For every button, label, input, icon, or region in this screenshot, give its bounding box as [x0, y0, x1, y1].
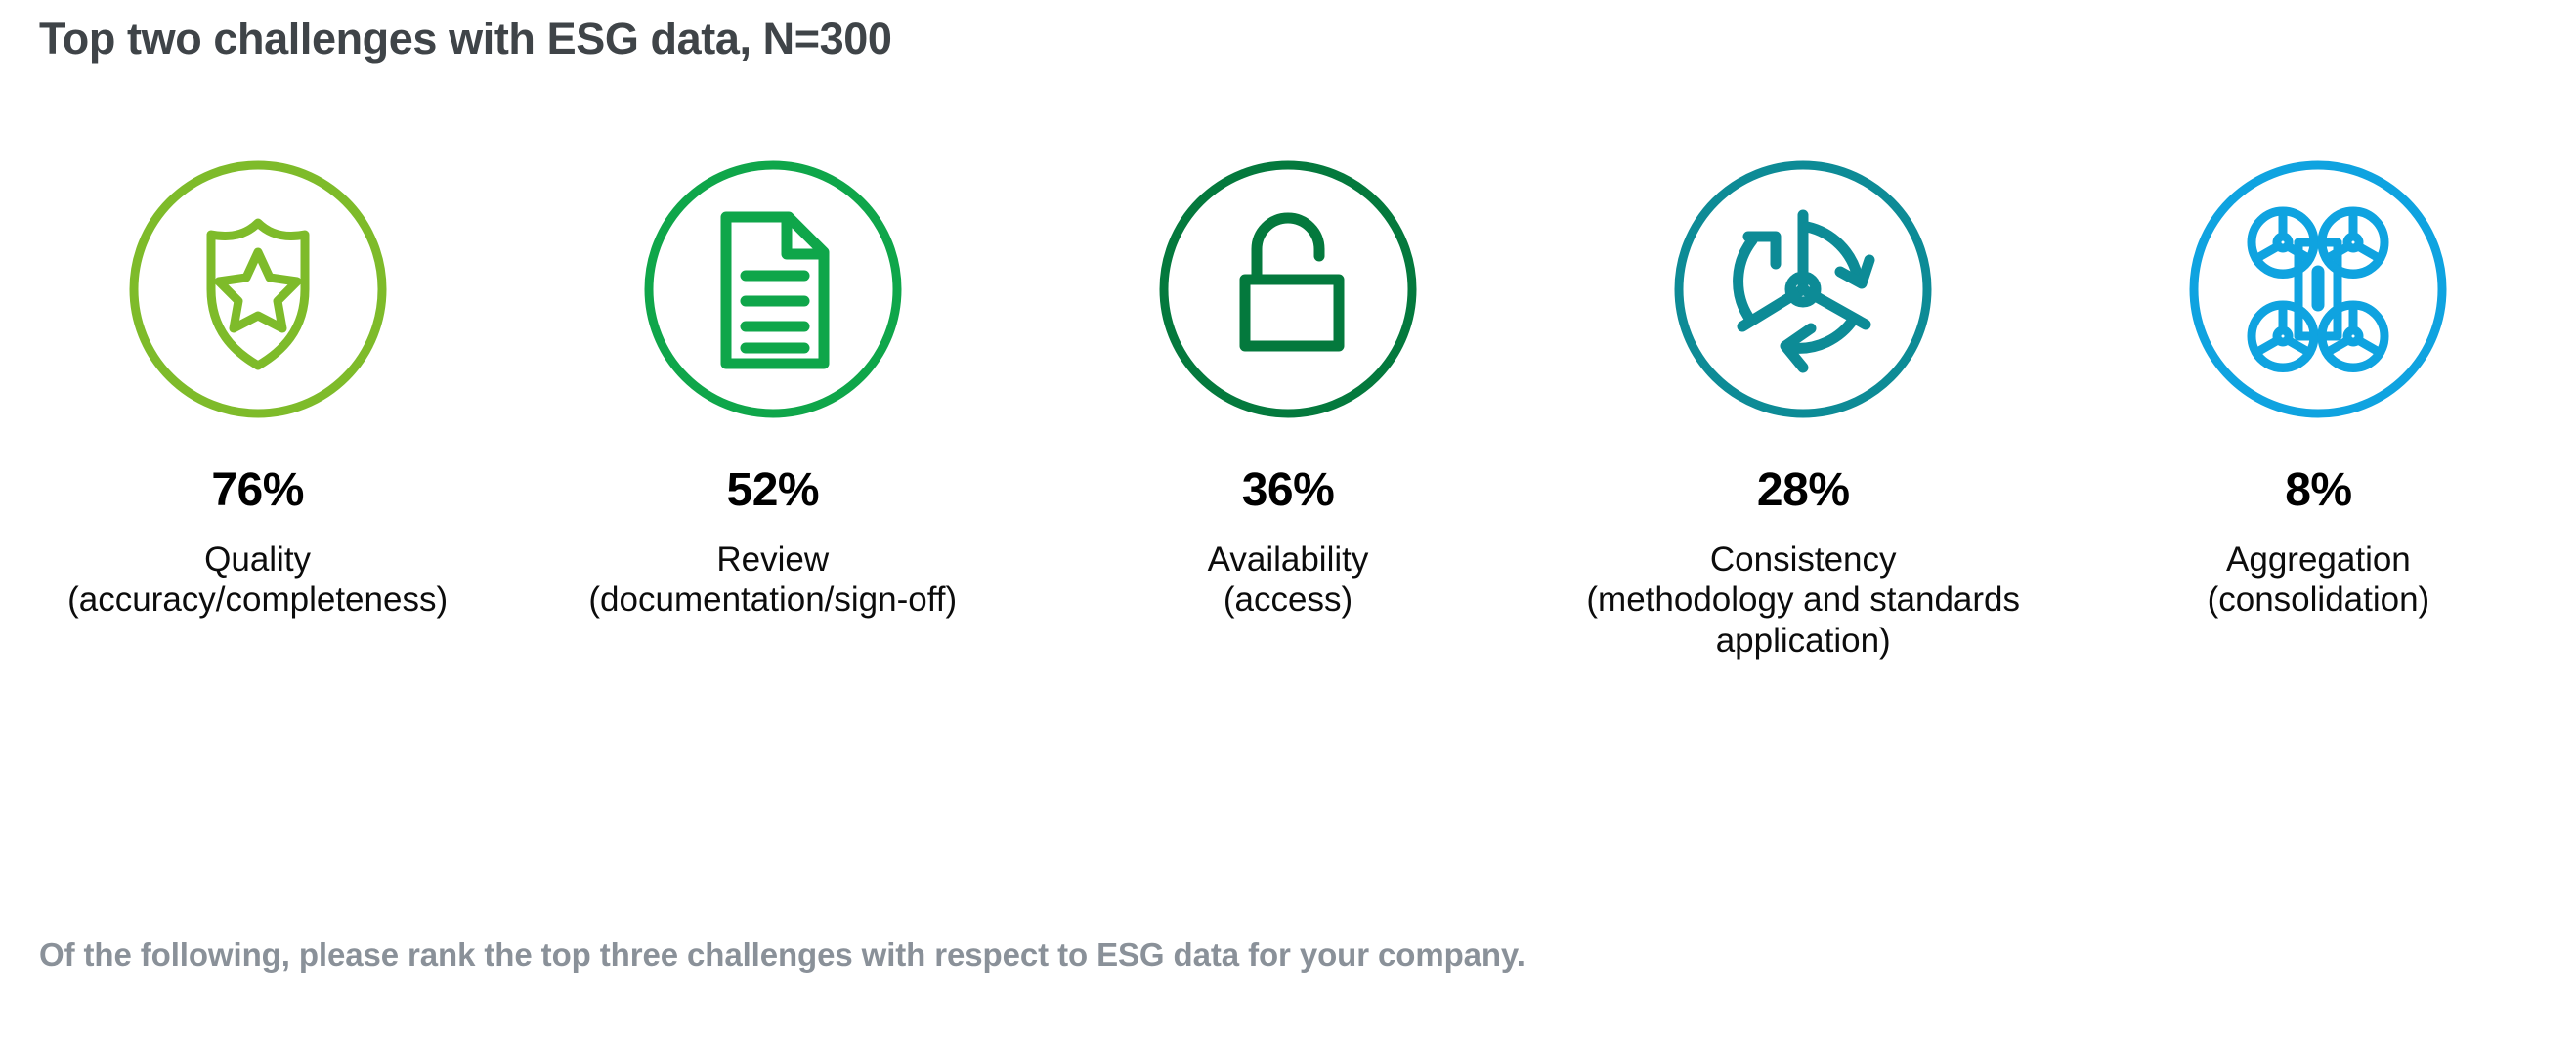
- stat-value: 36%: [1242, 467, 1335, 514]
- survey-question-note: Of the following, please rank the top th…: [39, 936, 1525, 974]
- stat-label: Availability (access): [1208, 540, 1369, 621]
- stat-label-sub: (access): [1208, 580, 1369, 620]
- stat-card-quality: 76% Quality (accuracy/completeness): [0, 156, 515, 621]
- stat-label-main: Aggregation: [2226, 541, 2411, 579]
- stat-card-aggregation: 8% Aggregation (consolidation): [2061, 156, 2576, 621]
- stat-card-availability: 36% Availability (access): [1030, 156, 1545, 621]
- stat-label-main: Availability: [1208, 541, 1369, 579]
- shield-star-icon: [125, 156, 391, 422]
- rotation-arrows-icon: [1670, 156, 1936, 422]
- infographic-page: Top two challenges with ESG data, N=300 …: [0, 0, 2576, 1040]
- stat-value: 76%: [211, 467, 304, 514]
- stat-label: Aggregation (consolidation): [2208, 540, 2430, 621]
- stat-value: 8%: [2285, 467, 2351, 514]
- stat-card-consistency: 28% Consistency (methodology and standar…: [1546, 156, 2061, 661]
- stat-label-sub: (documentation/sign-off): [588, 580, 957, 620]
- stat-label-sub: (accuracy/completeness): [67, 580, 448, 620]
- stat-label-main: Quality: [204, 541, 311, 579]
- stat-card-review: 52% Review (documentation/sign-off): [515, 156, 1030, 621]
- stat-card-row: 76% Quality (accuracy/completeness): [0, 156, 2576, 661]
- document-lines-icon: [640, 156, 906, 422]
- stat-value: 52%: [727, 467, 820, 514]
- drone-quadcopter-icon: [2185, 156, 2451, 422]
- stat-label: Quality (accuracy/completeness): [67, 540, 448, 621]
- stat-label-main: Consistency: [1710, 541, 1897, 579]
- open-padlock-icon: [1155, 156, 1421, 422]
- stat-value: 28%: [1757, 467, 1850, 514]
- stat-label-sub: (methodology and standards application): [1559, 580, 2047, 661]
- page-title: Top two challenges with ESG data, N=300: [39, 14, 892, 65]
- stat-label: Consistency (methodology and standards a…: [1559, 540, 2047, 661]
- stat-label: Review (documentation/sign-off): [588, 540, 957, 621]
- stat-label-main: Review: [716, 541, 829, 579]
- stat-label-sub: (consolidation): [2208, 580, 2430, 620]
